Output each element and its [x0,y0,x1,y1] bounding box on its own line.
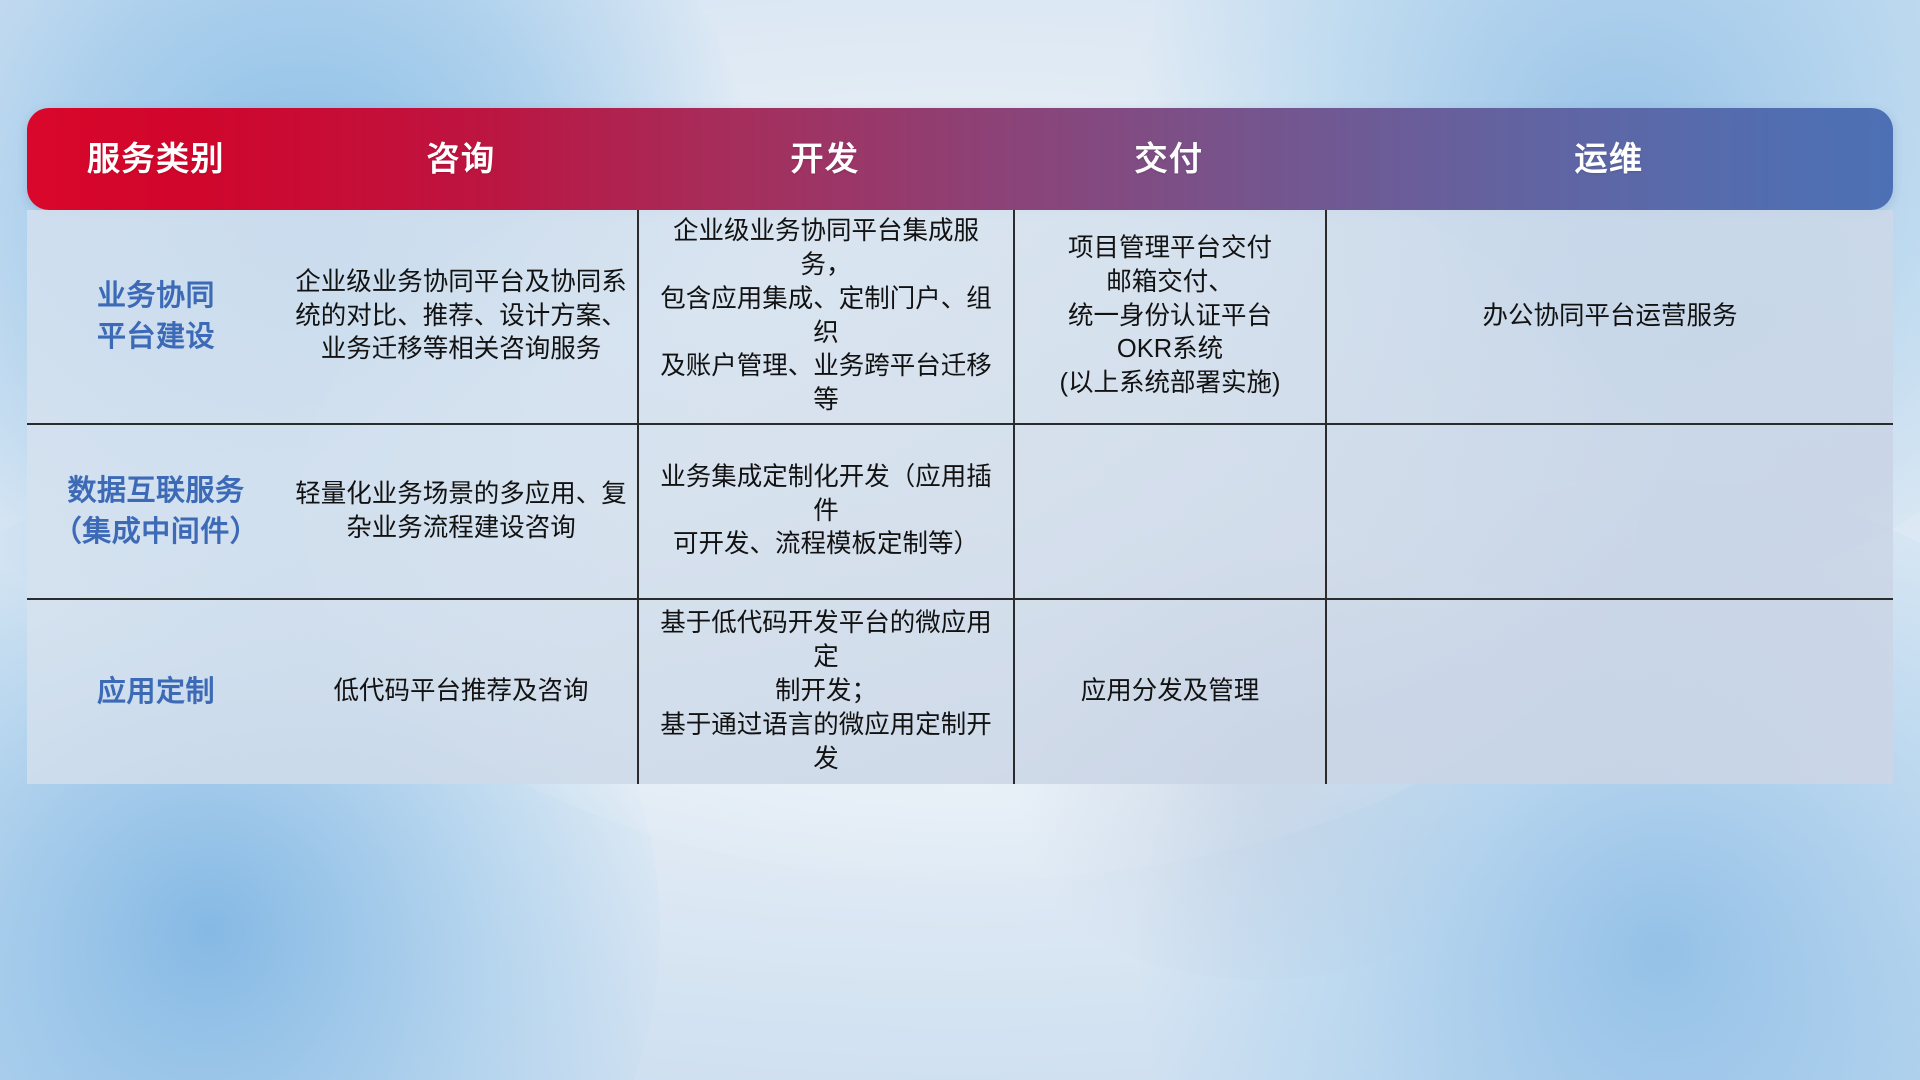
column-header-operations: 运维 [1325,142,1893,177]
cell-text: 轻量化业务场景的多应用、复 杂业务流程建设咨询 [295,478,627,546]
table-row: 业务协同 平台建设 企业级业务协同平台及协同系 统的对比、推荐、设计方案、 业务… [27,210,1893,423]
column-header-delivery: 交付 [1013,142,1325,177]
cell-text: 企业级业务协同平台及协同系 统的对比、推荐、设计方案、 业务迁移等相关咨询服务 [295,266,627,368]
cell-text: 企业级业务协同平台集成服务， 包含应用集成、定制门户、组织 及账户管理、业务跨平… [649,215,1003,418]
cell-text: 应用分发及管理 [1081,675,1260,709]
cell-text: 基于低代码开发平台的微应用定 制开发； 基于通过语言的微应用定制开发 [649,607,1003,777]
table-row: 数据互联服务 （集成中间件） 轻量化业务场景的多应用、复 杂业务流程建设咨询 业… [27,423,1893,598]
cell-delivery: 应用分发及管理 [1013,600,1325,784]
cell-text: 办公协同平台运营服务 [1482,300,1737,334]
cell-text: 项目管理平台交付 邮箱交付、 统一身份认证平台 OKR系统 (以上系统部署实施) [1060,232,1281,402]
cell-delivery: 项目管理平台交付 邮箱交付、 统一身份认证平台 OKR系统 (以上系统部署实施) [1013,210,1325,423]
cell-text: 业务集成定制化开发（应用插件 可开发、流程模板定制等） [649,461,1003,563]
category-text: 业务协同 平台建设 [97,276,215,356]
cell-operations: 办公协同平台运营服务 [1325,210,1893,423]
table-header-row: 服务类别 咨询 开发 交付 运维 [27,108,1893,210]
table-row: 应用定制 低代码平台推荐及咨询 基于低代码开发平台的微应用定 制开发； 基于通过… [27,598,1893,784]
cell-operations [1325,600,1893,784]
category-text: 数据互联服务 （集成中间件） [53,471,260,551]
row-category-label: 数据互联服务 （集成中间件） [27,425,285,598]
cell-text: 低代码平台推荐及咨询 [333,675,588,709]
column-header-development: 开发 [637,142,1013,177]
cell-development: 基于低代码开发平台的微应用定 制开发； 基于通过语言的微应用定制开发 [637,600,1013,784]
cell-development: 业务集成定制化开发（应用插件 可开发、流程模板定制等） [637,425,1013,598]
service-matrix-table: 服务类别 咨询 开发 交付 运维 业务协同 平台建设 企业级业务协同平台及协同系… [27,108,1893,784]
cell-development: 企业级业务协同平台集成服务， 包含应用集成、定制门户、组织 及账户管理、业务跨平… [637,210,1013,423]
cell-consulting: 企业级业务协同平台及协同系 统的对比、推荐、设计方案、 业务迁移等相关咨询服务 [285,210,637,423]
cell-consulting: 低代码平台推荐及咨询 [285,600,637,784]
cell-delivery [1013,425,1325,598]
cell-operations [1325,425,1893,598]
row-category-label: 业务协同 平台建设 [27,210,285,423]
row-category-label: 应用定制 [27,600,285,784]
column-header-service-category: 服务类别 [27,142,285,177]
category-text: 应用定制 [97,672,215,712]
table-body: 业务协同 平台建设 企业级业务协同平台及协同系 统的对比、推荐、设计方案、 业务… [27,210,1893,784]
column-header-consulting: 咨询 [285,142,637,177]
cell-consulting: 轻量化业务场景的多应用、复 杂业务流程建设咨询 [285,425,637,598]
